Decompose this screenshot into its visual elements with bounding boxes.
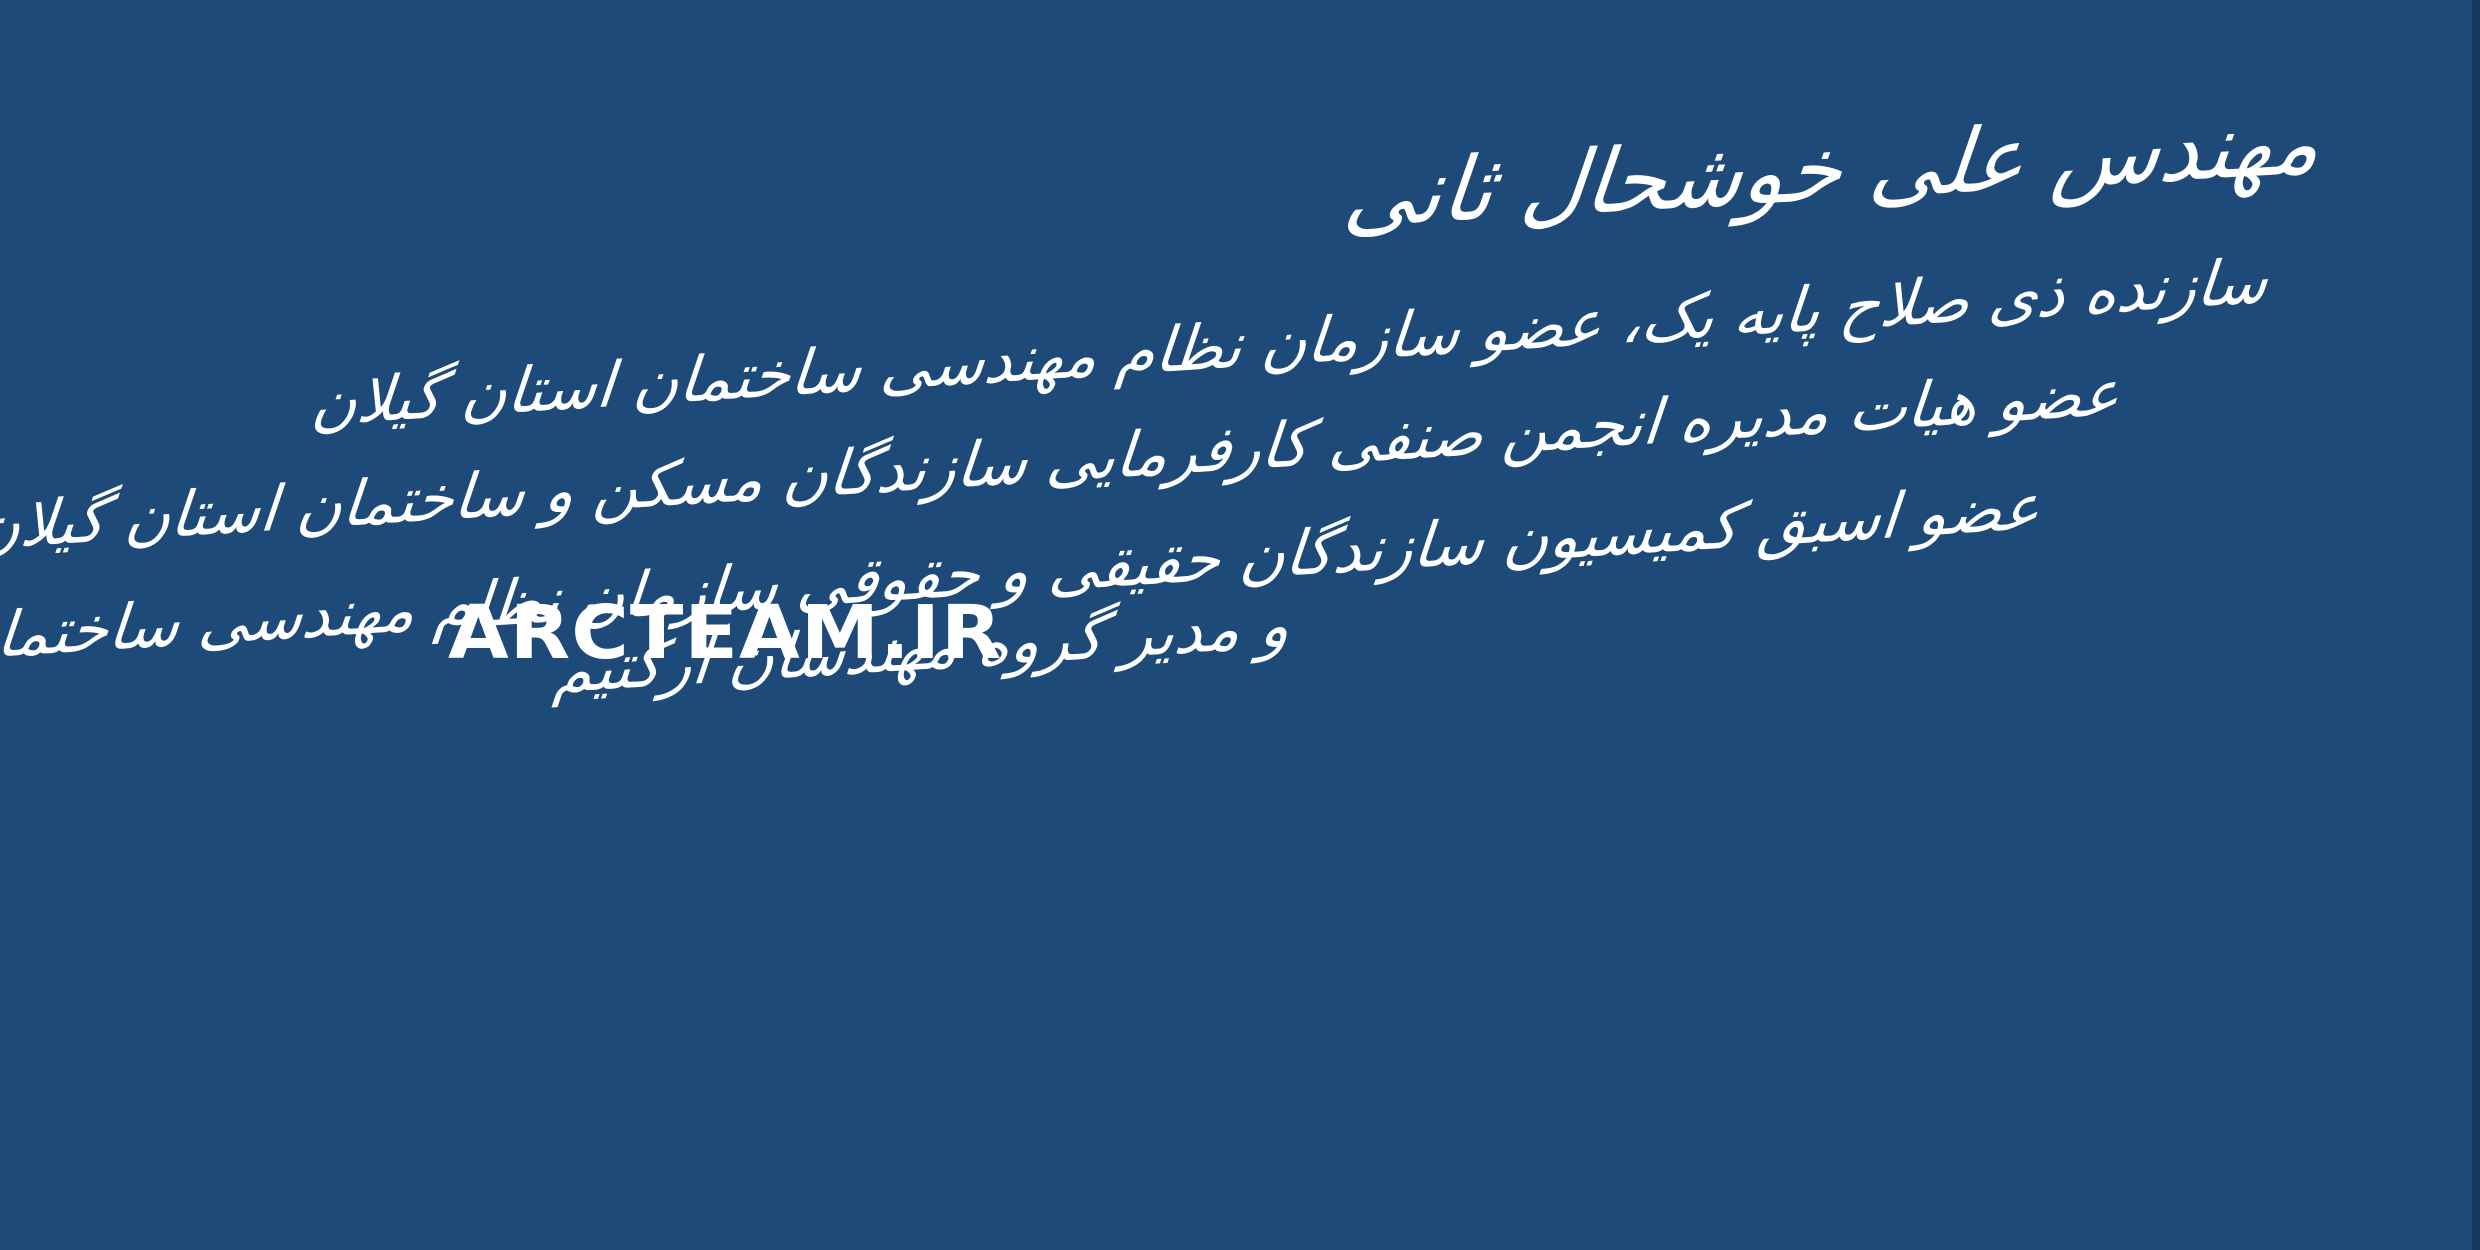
right-edge-strip (2472, 0, 2480, 1250)
business-card-banner: مهندس علی خوشحال ثانی سازنده ذی صلاح پای… (0, 0, 2480, 1250)
arcteam-logo-wordmark[interactable]: ARCTEAM.IR (448, 596, 1003, 670)
page-title: مهندس علی خوشحال ثانی (1340, 96, 2325, 244)
